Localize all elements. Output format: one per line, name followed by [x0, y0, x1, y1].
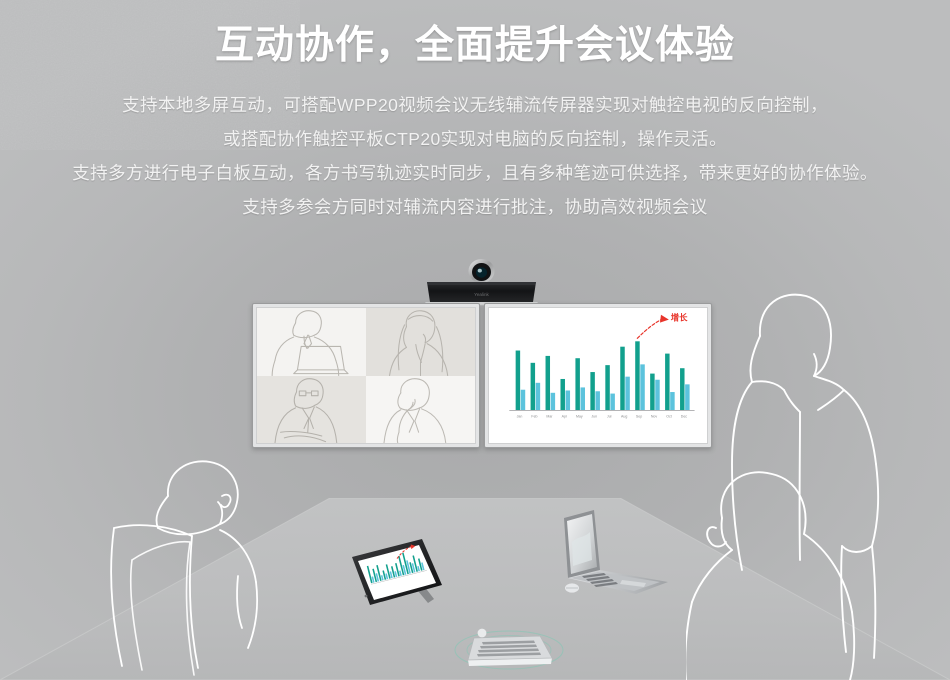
growth-arrow-icon: [637, 319, 663, 339]
bar-series-primary-Dec: [680, 368, 684, 410]
growth-annotation-label: 增长: [671, 313, 688, 323]
bar-series-secondary-Jun: [595, 391, 599, 410]
x-tick-label-Apr: Apr: [562, 414, 568, 418]
x-tick-label-Jul: Jul: [607, 414, 612, 418]
laptop[interactable]: [548, 508, 674, 600]
description-line-2: 或搭配协作触控平板CTP20实现对电脑的反向控制，操作灵活。: [0, 122, 950, 156]
bar-series-secondary-Dec: [685, 384, 689, 410]
bar-series-secondary-Nov: [655, 380, 659, 411]
growth-arrow-head-icon: [660, 315, 669, 323]
description-block: 支持本地多屏互动，可搭配WPP20视频会议无线辅流传屏器实现对触控电视的反向控制…: [0, 88, 950, 224]
bar-series-primary-Sep: [635, 341, 639, 410]
bar-series-secondary-Jan: [521, 390, 525, 411]
bar-series-primary-Aug: [620, 347, 624, 411]
description-line-4: 支持多参会方同时对辅流内容进行批注，协助高效视频会议: [0, 190, 950, 224]
participant-tile-man-hand-chin: [366, 376, 475, 444]
bar-series-secondary-Mar: [551, 393, 555, 411]
bar-series-primary-Apr: [560, 379, 564, 411]
bar-series-primary-Mar: [546, 356, 550, 411]
bar-series-secondary-Aug: [625, 377, 629, 411]
bar-series-primary-May: [575, 358, 579, 410]
bar-series-primary-Feb: [531, 363, 535, 411]
x-tick-label-Sep: Sep: [636, 414, 642, 418]
participant-grid: [257, 308, 475, 443]
collaboration-touch-panel-ctp20[interactable]: [344, 533, 449, 615]
bar-series-secondary-Feb: [536, 383, 540, 411]
x-tick-label-Jun: Jun: [591, 414, 597, 418]
participant-tile-woman: [366, 308, 475, 376]
promo-banner: Yealink: [0, 0, 950, 680]
bar-series-primary-Jun: [590, 372, 594, 410]
bar-series-secondary-Oct: [670, 392, 674, 410]
bar-series-secondary-Apr: [566, 390, 570, 410]
video-conference-camera: Yealink: [423, 258, 540, 306]
bar-series-secondary-Jul: [610, 394, 614, 411]
description-line-3: 支持多方进行电子白板互动，各方书写轨迹实时同步，且有多种笔迹可供选择，带来更好的…: [0, 156, 950, 190]
x-tick-label-Jan: Jan: [517, 414, 523, 418]
page-title: 互动协作，全面提升会议体验: [0, 14, 950, 70]
camera-brand-text: Yealink: [474, 292, 489, 297]
standing-and-seated-people-right: [686, 278, 950, 680]
description-line-1: 支持本地多屏互动，可搭配WPP20视频会议无线辅流传屏器实现对触控电视的反向控制…: [0, 88, 950, 122]
x-tick-label-Feb: Feb: [531, 414, 537, 418]
participant-tile-presenter: [257, 308, 366, 376]
dual-display-wall: JanFebMarAprMayJunJulAugSepNovOctDec 增长: [252, 303, 712, 448]
x-tick-label-Aug: Aug: [621, 414, 627, 418]
participant-tile-man-glasses: [257, 376, 366, 444]
seated-person-left: [96, 452, 331, 680]
bar-series-primary-Nov: [650, 374, 654, 411]
x-tick-label-Nov: Nov: [651, 414, 658, 418]
whiteboard-content-display[interactable]: JanFebMarAprMayJunJulAugSepNovOctDec 增长: [484, 303, 712, 448]
x-tick-label-Mar: Mar: [546, 414, 553, 418]
x-tick-label-Dec: Dec: [681, 414, 688, 418]
bar-chart: JanFebMarAprMayJunJulAugSepNovOctDec 增长: [489, 308, 707, 443]
bar-series-primary-Jan: [516, 351, 520, 411]
conference-speakerphone[interactable]: [448, 620, 570, 672]
participant-grid-display[interactable]: [252, 303, 480, 448]
x-tick-label-May: May: [576, 414, 583, 418]
bar-series-primary-Oct: [665, 354, 669, 411]
bar-series-primary-Jul: [605, 365, 609, 410]
x-tick-label-Oct: Oct: [666, 414, 672, 418]
bar-series-secondary-May: [581, 387, 585, 410]
bar-series-secondary-Sep: [640, 364, 644, 410]
